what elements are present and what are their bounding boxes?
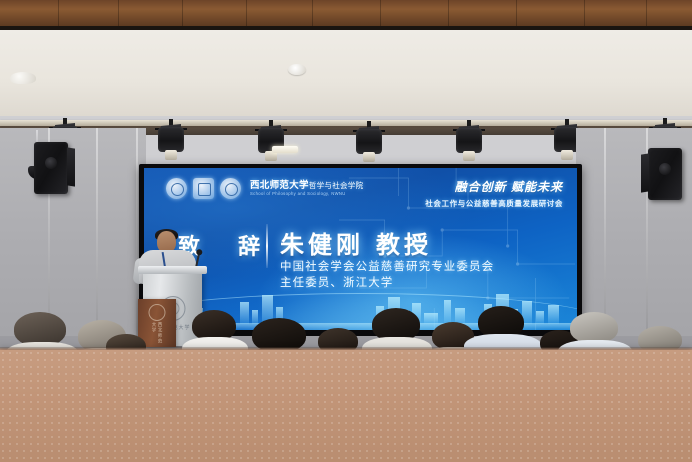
stage-light: [258, 120, 284, 162]
screen-theme-block: 融合创新 赋能未来 社会工作与公益慈善高质量发展研讨会: [425, 178, 563, 209]
screen-divider: [266, 224, 268, 268]
screen-speaker-name: 朱健刚: [280, 232, 364, 259]
podium-top: [138, 266, 207, 274]
right-wall-speaker: [648, 148, 682, 200]
screen-org-name-en: School of Philosophy and Sociology, NWNU: [250, 192, 363, 196]
recessed-ceiling-light: [272, 146, 298, 153]
screen-speaker-honorific: 教授: [376, 232, 432, 259]
screen-org-name: 西北师范大学: [250, 180, 309, 191]
spiral-emblem-icon: [220, 178, 241, 199]
screen-org-dept: 哲学与社会学院: [309, 181, 364, 190]
smoke-detector-icon: [288, 64, 306, 75]
conference-hall-photo: 西北师范大学哲学与社会学院 School of Philosophy and S…: [0, 0, 692, 462]
banner-emblem-icon: [149, 304, 166, 321]
screen-speaker-line: 朱健刚教授: [280, 225, 432, 260]
stage-light: [356, 121, 382, 163]
banner-vertical-text: 西北师范大学: [151, 322, 163, 347]
left-wall-speaker: [34, 142, 68, 194]
book-emblem-icon: [193, 178, 214, 199]
screen-affiliation-line-1: 中国社会学会公益慈善研究专业委员会: [280, 258, 494, 274]
screen-theme-sub: 社会工作与公益慈善高质量发展研讨会: [425, 198, 563, 209]
university-seal-icon: [166, 178, 187, 199]
ceiling-panel: [0, 30, 692, 116]
ceiling-vent-icon: [10, 72, 36, 84]
stage-light: [456, 120, 482, 162]
foreground-seatback: [0, 350, 692, 462]
screen-logo-row: 西北师范大学哲学与社会学院 School of Philosophy and S…: [166, 178, 363, 199]
stage-light: [158, 119, 184, 161]
screen-theme-main: 融合创新 赋能未来: [425, 178, 563, 195]
wood-ceiling-trim: [0, 0, 692, 26]
